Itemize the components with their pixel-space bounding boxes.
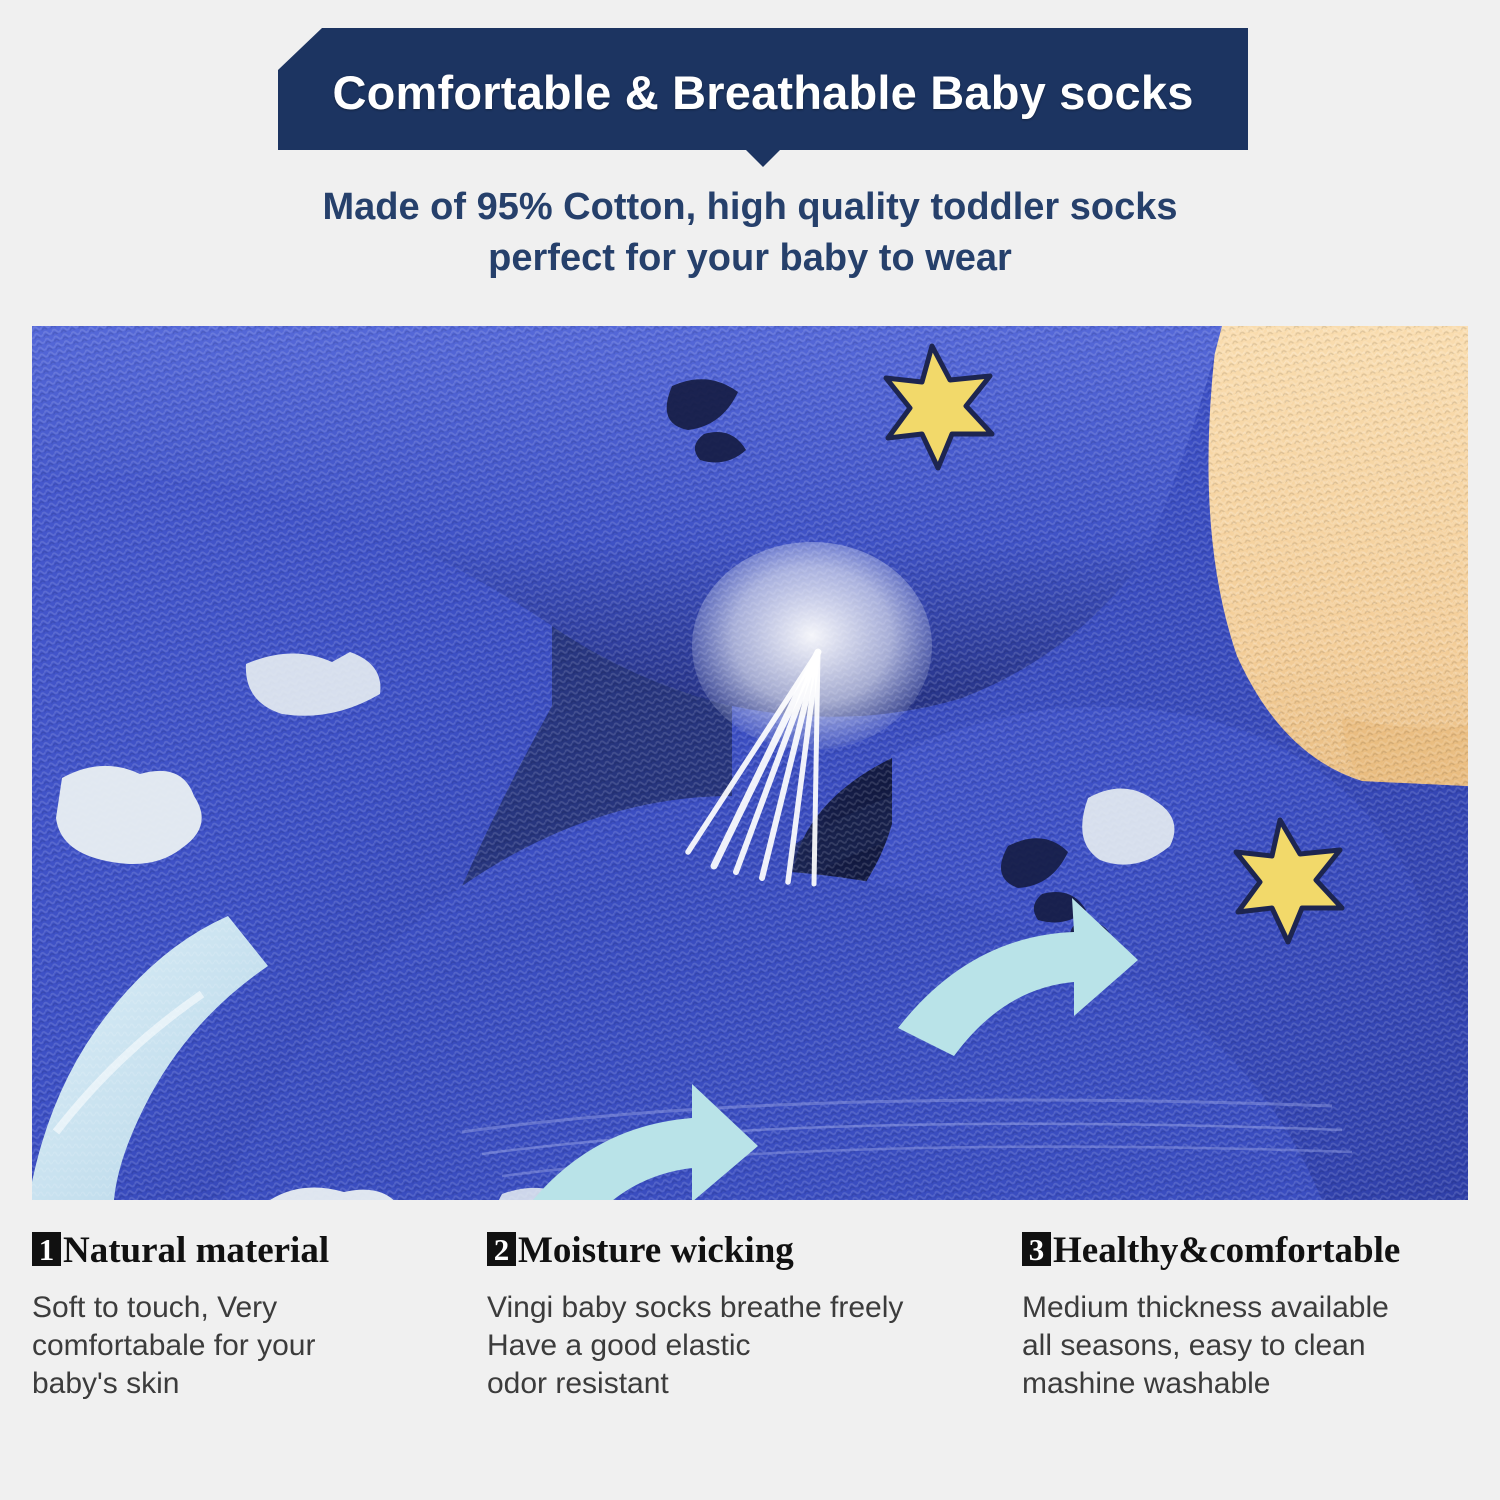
- feature-title-2: Moisture wicking: [518, 1232, 794, 1269]
- feature-list: 1 Natural material Soft to touch, Very c…: [32, 1232, 1468, 1403]
- banner-pointer-icon: [746, 150, 780, 167]
- feature-item-1: 1 Natural material Soft to touch, Very c…: [32, 1232, 487, 1403]
- feature-body-line: Soft to touch, Very: [32, 1289, 471, 1327]
- subtitle: Made of 95% Cotton, high quality toddler…: [0, 182, 1500, 283]
- feature-title-1: Natural material: [63, 1232, 329, 1269]
- product-photo: [32, 326, 1468, 1200]
- product-photo-illustration: [32, 326, 1468, 1200]
- feature-item-2: 2 Moisture wicking Vingi baby socks brea…: [487, 1232, 1022, 1403]
- header-banner: Comfortable & Breathable Baby socks: [278, 28, 1248, 150]
- feature-item-3: 3 Healthy&comfortable Medium thickness a…: [1022, 1232, 1468, 1403]
- feature-number-badge-1: 1: [32, 1232, 61, 1266]
- feature-number-badge-3: 3: [1022, 1232, 1051, 1266]
- feature-body-line: Vingi baby socks breathe freely: [487, 1289, 1006, 1327]
- feature-heading-2: 2 Moisture wicking: [487, 1232, 1006, 1269]
- feature-body-line: mashine washable: [1022, 1365, 1468, 1403]
- feature-title-3: Healthy&comfortable: [1053, 1232, 1400, 1269]
- feature-number-badge-2: 2: [487, 1232, 516, 1266]
- banner-shape: Comfortable & Breathable Baby socks: [278, 28, 1248, 150]
- feature-body-line: all seasons, easy to clean: [1022, 1327, 1468, 1365]
- feature-body-line: Have a good elastic: [487, 1327, 1006, 1365]
- feature-body-2: Vingi baby socks breathe freely Have a g…: [487, 1289, 1006, 1403]
- feature-body-1: Soft to touch, Very comfortabale for you…: [32, 1289, 471, 1403]
- subtitle-line-2: perfect for your baby to wear: [0, 233, 1500, 284]
- feature-body-3: Medium thickness available all seasons, …: [1022, 1289, 1468, 1403]
- feature-body-line: baby's skin: [32, 1365, 471, 1403]
- page-title: Comfortable & Breathable Baby socks: [332, 65, 1193, 120]
- feature-body-line: comfortabale for your: [32, 1327, 471, 1365]
- feature-heading-1: 1 Natural material: [32, 1232, 471, 1269]
- feature-body-line: odor resistant: [487, 1365, 1006, 1403]
- subtitle-line-1: Made of 95% Cotton, high quality toddler…: [0, 182, 1500, 233]
- feature-body-line: Medium thickness available: [1022, 1289, 1468, 1327]
- feature-heading-3: 3 Healthy&comfortable: [1022, 1232, 1468, 1269]
